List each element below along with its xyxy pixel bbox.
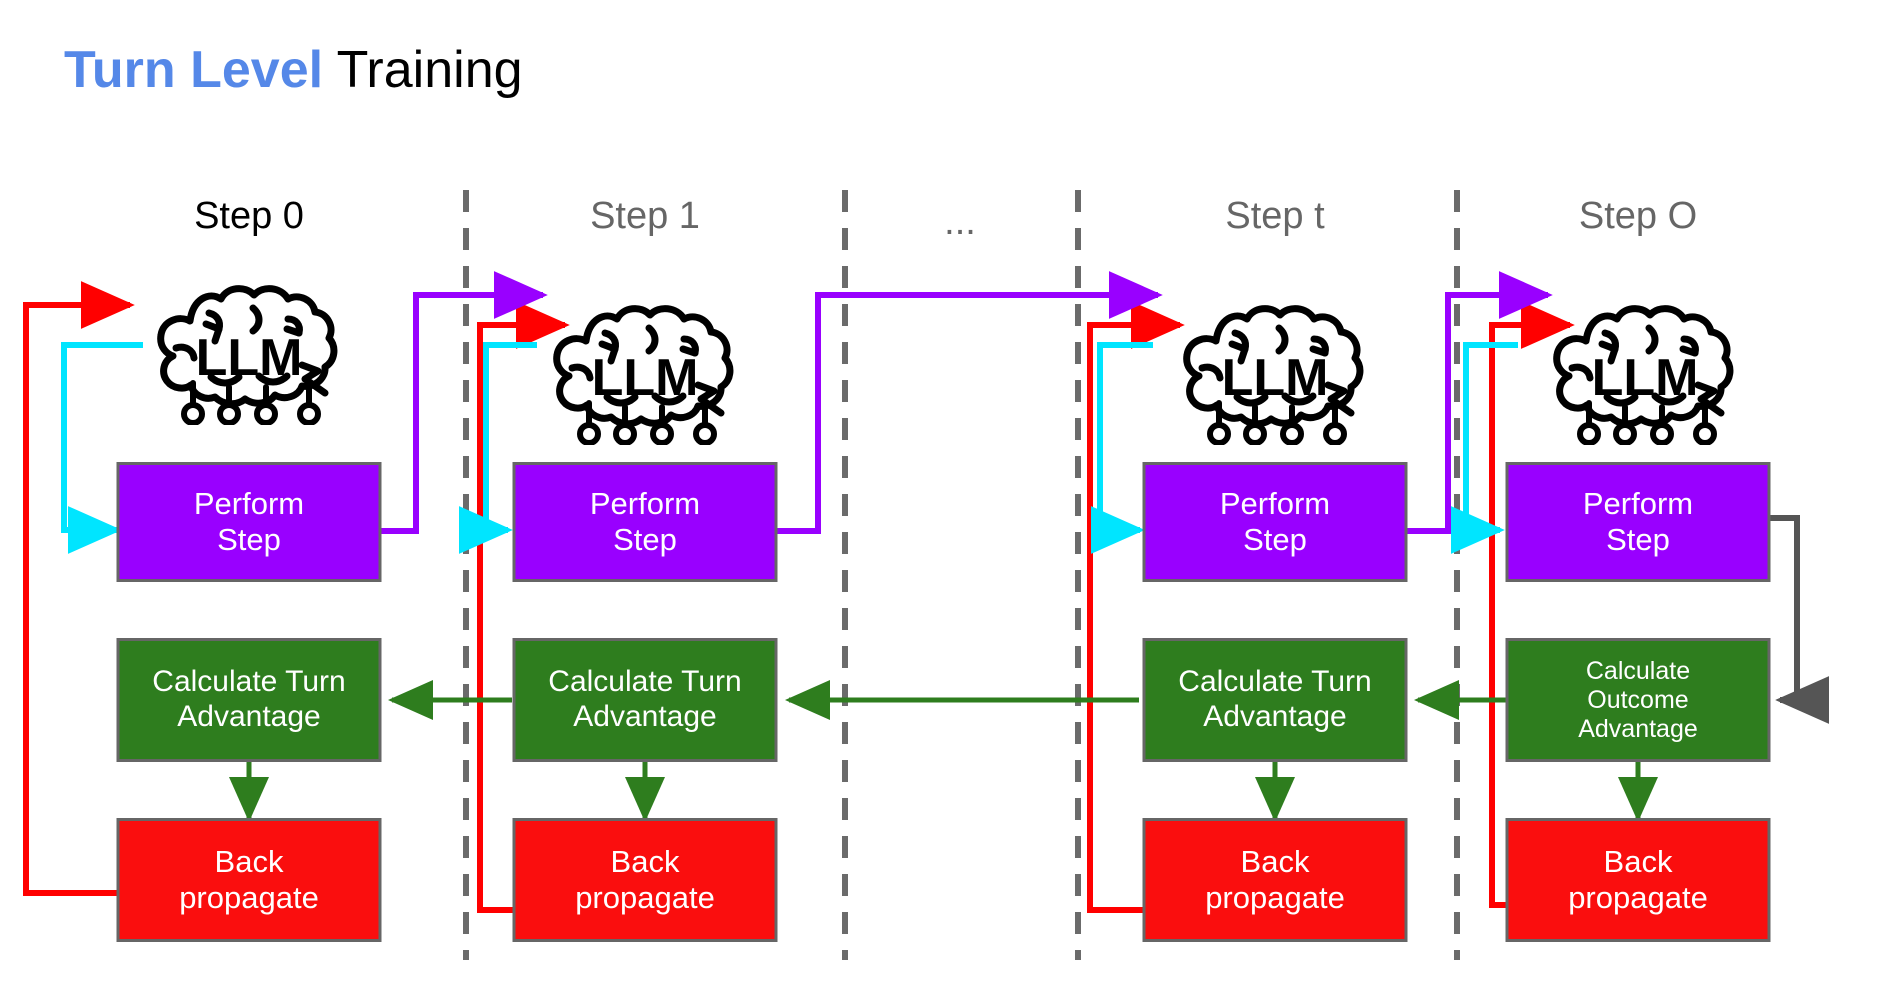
title-plain: Training (323, 41, 522, 99)
back-propagate-box-4[interactable]: Back propagate (1506, 818, 1771, 942)
step-label-1: Step 1 (590, 194, 700, 238)
perform-step-box-4[interactable]: Perform Step (1506, 462, 1771, 582)
outcome-feedback-arrow (1770, 518, 1797, 700)
brain-icon-0: LLM (149, 275, 349, 425)
calculate-advantage-box-1[interactable]: Calculate Turn Advantage (513, 638, 778, 762)
calculate-advantage-box-0[interactable]: Calculate Turn Advantage (117, 638, 382, 762)
advantage-to-backprop-arrows (249, 762, 1638, 818)
llm-label-1: LLM (592, 349, 699, 407)
back-propagate-box-0[interactable]: Back propagate (117, 818, 382, 942)
perform-step-box-1[interactable]: Perform Step (513, 462, 778, 582)
title-accent: Turn Level (64, 41, 323, 99)
slide-canvas: Turn Level Training (0, 0, 1890, 989)
perform-step-box-3[interactable]: Perform Step (1143, 462, 1408, 582)
step-label-O: Step O (1579, 194, 1697, 238)
calculate-outcome-advantage-box[interactable]: Calculate Outcome Advantage (1506, 638, 1771, 762)
perform-step-box-0[interactable]: Perform Step (117, 462, 382, 582)
calculate-advantage-box-3[interactable]: Calculate Turn Advantage (1143, 638, 1408, 762)
llm-label-4: LLM (1592, 349, 1699, 407)
back-propagate-box-3[interactable]: Back propagate (1143, 818, 1408, 942)
llm-label-0: LLM (196, 329, 303, 387)
brain-icon-1: LLM (545, 295, 745, 445)
brain-icon-4: LLM (1545, 295, 1745, 445)
step-label-0: Step 0 (194, 194, 304, 238)
brain-icon-3: LLM (1175, 295, 1375, 445)
llm-label-3: LLM (1222, 349, 1329, 407)
step-label-ellipsis: ... (944, 200, 976, 244)
step-label-t: Step t (1225, 194, 1324, 238)
page-title: Turn Level Training (64, 38, 523, 102)
back-propagate-box-1[interactable]: Back propagate (513, 818, 778, 942)
